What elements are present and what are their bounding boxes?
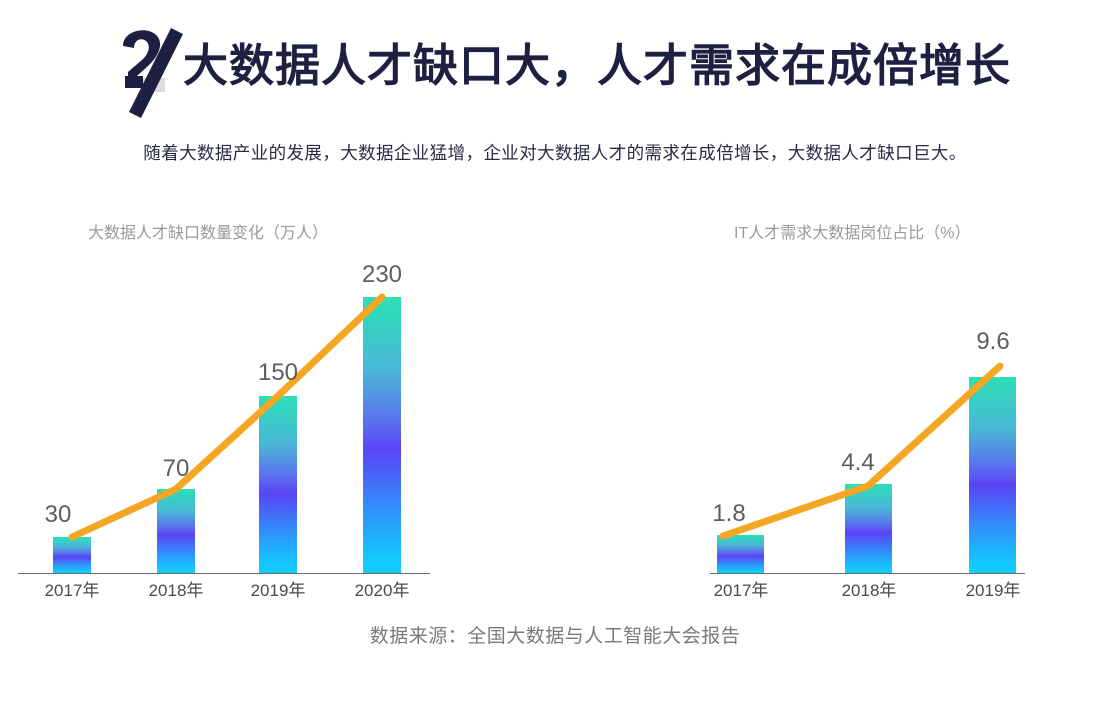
two-slash-logo-icon — [115, 26, 185, 118]
tick-label-2019: 2019年 — [228, 579, 328, 603]
plot-area-it-demand-share: 1.8 4.4 9.6 2017年 2018年 2019年 — [555, 196, 1110, 616]
bar-2019[interactable] — [259, 396, 297, 573]
value-label-2019: 9.6 — [958, 328, 1028, 356]
data-source-note: 数据来源：全国大数据与人工智能大会报告 — [0, 622, 1110, 652]
value-label-2019: 150 — [243, 359, 313, 387]
bar-2018[interactable] — [157, 489, 195, 573]
tick-label-2018: 2018年 — [819, 579, 919, 603]
chart-it-demand-share: IT人才需求大数据岗位占比（%） 1.8 4.4 9.6 2017年 2018年… — [555, 196, 1110, 616]
value-label-2018: 4.4 — [823, 449, 893, 477]
bar-2020[interactable] — [363, 297, 401, 573]
trend-line-it-demand-share — [555, 196, 1110, 616]
bar-2017[interactable] — [717, 535, 764, 573]
value-label-2017: 1.8 — [694, 500, 764, 528]
bar-2019[interactable] — [969, 377, 1016, 573]
tick-label-2017: 2017年 — [691, 579, 791, 603]
chart-talent-gap: 大数据人才缺口数量变化（万人） 30 70 150 230 2017年 2018… — [0, 196, 555, 616]
x-axis-line — [710, 573, 1025, 574]
value-label-2018: 70 — [146, 455, 206, 483]
tick-label-2019: 2019年 — [943, 579, 1043, 603]
page-subtitle: 随着大数据产业的发展，大数据企业猛增，企业对大数据人才的需求在成倍增长，大数据人… — [0, 139, 1110, 167]
infographic-page: 大数据人才缺口大，人才需求在成倍增长 随着大数据产业的发展，大数据企业猛增，企业… — [0, 0, 1110, 727]
bar-2018[interactable] — [845, 484, 892, 573]
value-label-2017: 30 — [28, 501, 88, 529]
tick-label-2020: 2020年 — [332, 579, 432, 603]
x-axis-line — [18, 573, 430, 574]
plot-area-talent-gap: 30 70 150 230 2017年 2018年 2019年 2020年 — [0, 196, 555, 616]
tick-label-2017: 2017年 — [22, 579, 122, 603]
tick-label-2018: 2018年 — [126, 579, 226, 603]
page-title: 大数据人才缺口大，人才需求在成倍增长 — [183, 38, 1011, 94]
bar-2017[interactable] — [53, 537, 91, 573]
page-header: 大数据人才缺口大，人才需求在成倍增长 — [0, 0, 1110, 120]
value-label-2020: 230 — [347, 261, 417, 289]
